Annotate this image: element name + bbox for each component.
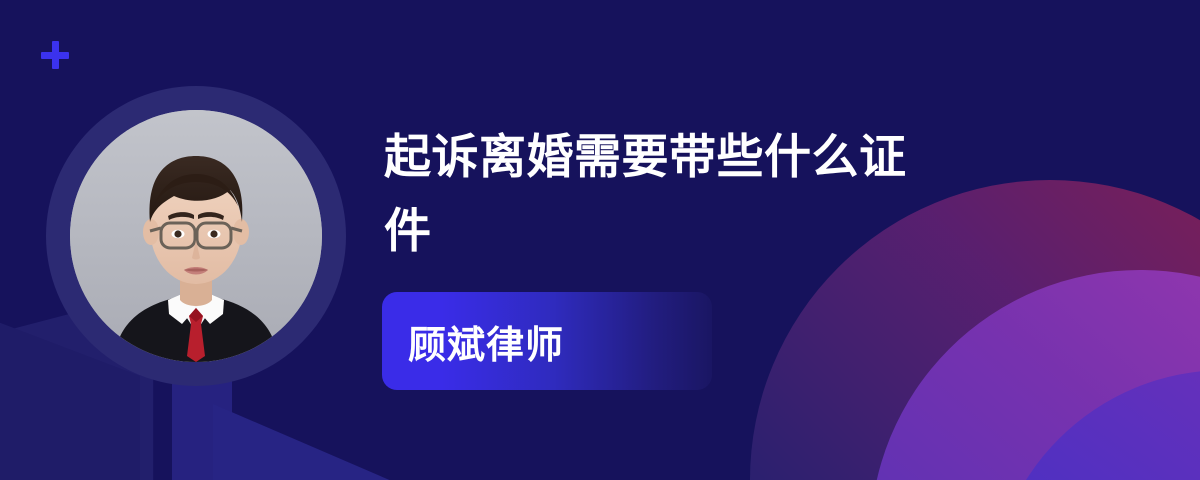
avatar-ring — [46, 86, 346, 386]
violet-arc-shape — [990, 370, 1200, 480]
page-title-line-2: 件 — [384, 194, 1084, 268]
plus-icon-bar-vertical — [52, 41, 59, 69]
content-column: 起诉离婚需要带些什么证件 — [384, 120, 1084, 268]
avatar — [70, 110, 322, 362]
purple-arc-shape — [870, 270, 1200, 480]
lawyer-name-label: 顾斌律师 — [382, 314, 564, 369]
lawyer-question-banner: 起诉离婚需要带些什么证件 顾斌律师 — [0, 0, 1200, 480]
lawyer-name-button[interactable]: 顾斌律师 — [382, 292, 712, 390]
page-title: 起诉离婚需要带些什么证件 — [384, 120, 1084, 268]
plus-icon — [41, 41, 69, 69]
page-title-line-1: 起诉离婚需要带些什么证 — [384, 130, 907, 183]
